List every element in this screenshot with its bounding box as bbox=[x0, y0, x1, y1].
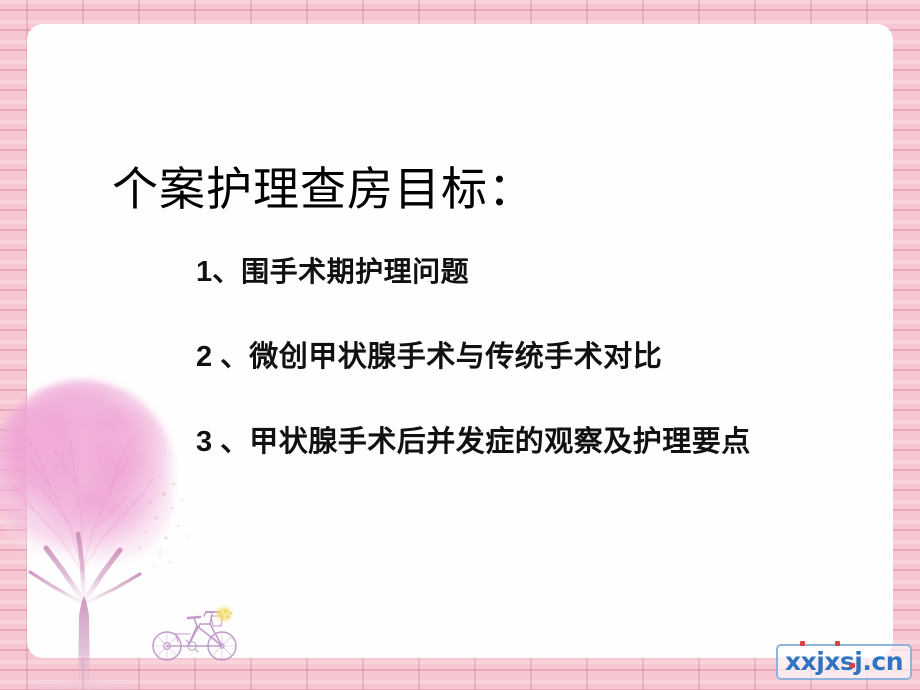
list-item: 2 、微创甲状腺手术与传统手术对比 bbox=[196, 333, 856, 375]
list-item-label: 甲状腺手术后并发症的观察及护理要点 bbox=[249, 424, 751, 458]
slide-text-layer: 个案护理查房目标： 1、围手术期护理问题 2 、微创甲状腺手术与传统手术对比 3… bbox=[0, 0, 920, 690]
list-item: 1、围手术期护理问题 bbox=[196, 248, 856, 290]
watermark-logo: xxjxsj.cn bbox=[776, 644, 912, 680]
watermark-text: xxjxsj.cn bbox=[785, 649, 903, 674]
list-item-number: 1、 bbox=[196, 256, 241, 288]
list-item-number: 2 、 bbox=[196, 341, 249, 373]
watermark-dot-icon bbox=[800, 641, 805, 646]
list-item-label: 微创甲状腺手术与传统手术对比 bbox=[249, 339, 662, 373]
presentation-slide: 个案护理查房目标： 1、围手术期护理问题 2 、微创甲状腺手术与传统手术对比 3… bbox=[0, 0, 920, 690]
watermark-dot-icon bbox=[850, 663, 855, 668]
list-item-number: 3 、 bbox=[196, 426, 249, 458]
list-item-label: 围手术期护理问题 bbox=[241, 255, 469, 288]
page-title: 个案护理查房目标： bbox=[112, 164, 535, 216]
objectives-list: 1、围手术期护理问题 2 、微创甲状腺手术与传统手术对比 3 、甲状腺手术后并发… bbox=[196, 248, 856, 460]
watermark-dot-icon bbox=[835, 641, 840, 646]
list-item: 3 、甲状腺手术后并发症的观察及护理要点 bbox=[196, 418, 856, 460]
